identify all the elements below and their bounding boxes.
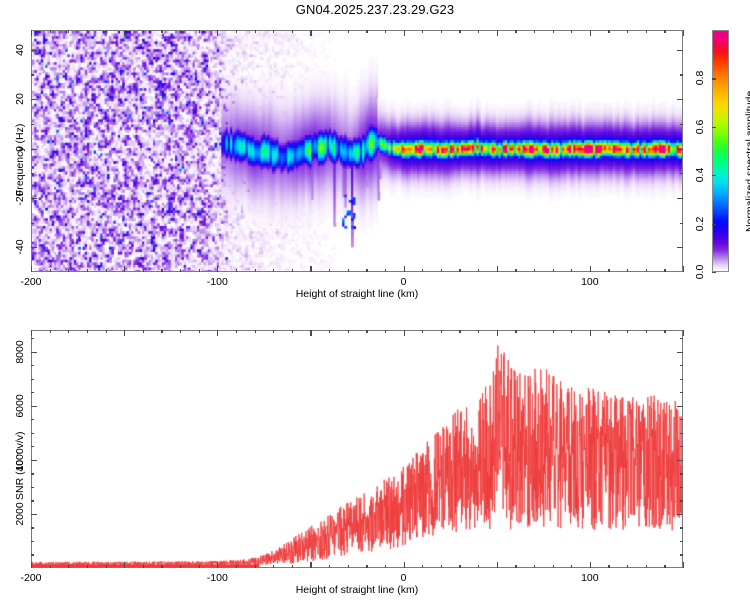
x-minor-tick <box>87 565 88 568</box>
y-minor-tick <box>31 541 34 542</box>
x-minor-tick <box>87 269 88 272</box>
x-tick <box>404 266 405 272</box>
x-tick <box>124 330 125 336</box>
x-tick-label: -100 <box>207 572 228 584</box>
x-minor-tick <box>441 565 442 568</box>
x-minor-tick <box>180 269 181 272</box>
x-minor-tick <box>87 330 88 333</box>
y-minor-tick <box>680 419 683 420</box>
x-minor-tick <box>329 30 330 33</box>
spectrogram-yaxis-label: Frequency (Hz) <box>14 124 26 196</box>
x-tick <box>590 30 591 36</box>
y-tick-label: 20 <box>14 93 26 105</box>
x-minor-tick <box>515 269 516 272</box>
x-minor-tick <box>161 565 162 568</box>
x-minor-tick <box>646 565 647 568</box>
x-minor-tick <box>534 330 535 333</box>
x-tick-label: 100 <box>581 572 599 584</box>
y-minor-tick <box>680 541 683 542</box>
x-tick <box>124 266 125 272</box>
x-minor-tick <box>534 565 535 568</box>
y-minor-tick <box>31 392 34 393</box>
x-minor-tick <box>348 269 349 272</box>
y-minor-tick <box>680 446 683 447</box>
x-minor-tick <box>422 269 423 272</box>
y-minor-tick <box>31 527 34 528</box>
x-minor-tick <box>180 30 181 33</box>
y-minor-tick <box>31 173 34 174</box>
x-minor-tick <box>366 30 367 33</box>
x-minor-tick <box>385 565 386 568</box>
x-minor-tick <box>459 330 460 333</box>
x-tick <box>497 266 498 272</box>
x-minor-tick <box>664 30 665 33</box>
y-tick <box>31 50 37 51</box>
x-minor-tick <box>161 269 162 272</box>
x-minor-tick <box>255 565 256 568</box>
x-minor-tick <box>553 30 554 33</box>
x-tick <box>590 562 591 568</box>
x-minor-tick <box>348 565 349 568</box>
x-tick <box>497 330 498 336</box>
y-minor-tick <box>680 365 683 366</box>
x-minor-tick <box>441 30 442 33</box>
x-tick <box>310 30 311 36</box>
x-tick-label: 0 <box>401 276 407 288</box>
x-tick <box>590 266 591 272</box>
colorbar-tick <box>712 224 716 225</box>
x-minor-tick <box>50 330 51 333</box>
y-minor-tick <box>680 473 683 474</box>
colorbar-tick <box>712 175 716 176</box>
x-minor-tick <box>422 30 423 33</box>
x-minor-tick <box>68 330 69 333</box>
x-minor-tick <box>68 565 69 568</box>
x-tick <box>310 266 311 272</box>
y-tick <box>677 406 683 407</box>
x-minor-tick <box>143 330 144 333</box>
x-minor-tick <box>385 330 386 333</box>
x-minor-tick <box>478 269 479 272</box>
y-minor-tick <box>31 74 34 75</box>
x-minor-tick <box>627 30 628 33</box>
x-minor-tick <box>515 565 516 568</box>
colorbar-tick-label: 0.2 <box>694 216 706 231</box>
y-minor-tick <box>31 124 34 125</box>
colorbar-tick-label: 0.8 <box>694 71 706 86</box>
x-minor-tick <box>571 565 572 568</box>
x-tick <box>31 266 32 272</box>
x-tick-label: -200 <box>20 572 41 584</box>
x-tick <box>590 330 591 336</box>
y-tick-label: 6000 <box>14 394 26 417</box>
x-tick <box>31 330 32 336</box>
y-minor-tick <box>680 223 683 224</box>
x-minor-tick <box>143 269 144 272</box>
x-minor-tick <box>608 565 609 568</box>
y-tick <box>31 247 37 248</box>
x-minor-tick <box>441 330 442 333</box>
x-minor-tick <box>292 30 293 33</box>
y-minor-tick <box>680 433 683 434</box>
x-minor-tick <box>236 565 237 568</box>
y-tick <box>677 99 683 100</box>
x-minor-tick <box>478 330 479 333</box>
x-tick <box>683 30 684 36</box>
x-minor-tick <box>553 330 554 333</box>
y-tick <box>31 198 37 199</box>
x-minor-tick <box>348 30 349 33</box>
y-tick-label: 40 <box>14 44 26 56</box>
y-minor-tick <box>680 74 683 75</box>
x-minor-tick <box>236 330 237 333</box>
snr-trace <box>32 331 683 568</box>
x-minor-tick <box>553 565 554 568</box>
colorbar-label: Normalized spectral amplitude <box>744 91 750 232</box>
x-minor-tick <box>199 330 200 333</box>
y-minor-tick <box>31 473 34 474</box>
y-tick <box>677 198 683 199</box>
colorbar-tick-label: 0.6 <box>694 119 706 134</box>
x-minor-tick <box>106 30 107 33</box>
x-minor-tick <box>87 30 88 33</box>
x-tick <box>217 330 218 336</box>
y-tick <box>31 99 37 100</box>
y-minor-tick <box>31 500 34 501</box>
x-tick <box>497 562 498 568</box>
x-minor-tick <box>199 30 200 33</box>
y-tick <box>31 149 37 150</box>
x-minor-tick <box>627 565 628 568</box>
x-tick <box>217 30 218 36</box>
x-tick <box>683 562 684 568</box>
x-tick <box>404 330 405 336</box>
x-minor-tick <box>627 330 628 333</box>
y-tick <box>677 247 683 248</box>
y-tick <box>31 352 37 353</box>
x-minor-tick <box>348 330 349 333</box>
x-minor-tick <box>50 269 51 272</box>
x-minor-tick <box>385 30 386 33</box>
y-tick-label: 2000 <box>14 502 26 525</box>
x-minor-tick <box>292 330 293 333</box>
colorbar-tick-label: 0.0 <box>694 265 706 280</box>
x-minor-tick <box>180 330 181 333</box>
figure-canvas: GN04.2025.237.23.29.G23 -200-10001004020… <box>0 0 750 600</box>
y-minor-tick <box>680 338 683 339</box>
x-minor-tick <box>608 330 609 333</box>
x-tick <box>310 562 311 568</box>
x-minor-tick <box>664 330 665 333</box>
x-minor-tick <box>664 565 665 568</box>
x-minor-tick <box>292 565 293 568</box>
x-minor-tick <box>422 565 423 568</box>
y-minor-tick <box>31 446 34 447</box>
x-minor-tick <box>646 30 647 33</box>
x-tick <box>124 562 125 568</box>
x-tick-label: 100 <box>581 276 599 288</box>
x-minor-tick <box>180 565 181 568</box>
x-minor-tick <box>143 30 144 33</box>
x-minor-tick <box>50 565 51 568</box>
x-minor-tick <box>273 565 274 568</box>
x-minor-tick <box>161 330 162 333</box>
x-minor-tick <box>553 269 554 272</box>
x-minor-tick <box>255 330 256 333</box>
x-minor-tick <box>366 269 367 272</box>
spectrogram-xaxis-label: Height of straight line (km) <box>31 288 683 300</box>
x-minor-tick <box>366 330 367 333</box>
y-minor-tick <box>31 338 34 339</box>
y-minor-tick <box>680 500 683 501</box>
x-minor-tick <box>571 30 572 33</box>
x-minor-tick <box>534 30 535 33</box>
y-tick <box>677 460 683 461</box>
y-tick <box>31 406 37 407</box>
x-minor-tick <box>664 269 665 272</box>
x-tick-label: -200 <box>20 276 41 288</box>
colorbar-tick <box>712 78 716 79</box>
x-tick <box>683 266 684 272</box>
x-minor-tick <box>106 330 107 333</box>
colorbar-tick <box>712 127 716 128</box>
x-minor-tick <box>273 330 274 333</box>
y-minor-tick <box>680 554 683 555</box>
y-minor-tick <box>680 379 683 380</box>
x-tick <box>310 330 311 336</box>
y-tick <box>677 149 683 150</box>
x-minor-tick <box>199 565 200 568</box>
y-minor-tick <box>31 433 34 434</box>
x-minor-tick <box>68 30 69 33</box>
x-tick <box>404 30 405 36</box>
x-tick <box>31 562 32 568</box>
x-tick <box>404 562 405 568</box>
x-minor-tick <box>646 269 647 272</box>
x-minor-tick <box>366 565 367 568</box>
y-minor-tick <box>680 487 683 488</box>
x-minor-tick <box>329 269 330 272</box>
x-minor-tick <box>441 269 442 272</box>
x-minor-tick <box>236 269 237 272</box>
y-minor-tick <box>680 173 683 174</box>
x-minor-tick <box>255 30 256 33</box>
x-minor-tick <box>608 269 609 272</box>
snr-plot-area <box>31 330 683 568</box>
x-tick <box>217 266 218 272</box>
y-minor-tick <box>31 223 34 224</box>
y-tick-label: -40 <box>14 240 26 255</box>
x-minor-tick <box>273 30 274 33</box>
x-tick <box>217 562 218 568</box>
x-minor-tick <box>143 565 144 568</box>
x-minor-tick <box>571 330 572 333</box>
x-minor-tick <box>68 269 69 272</box>
snr-xaxis-label: Height of straight line (km) <box>31 584 683 596</box>
x-minor-tick <box>236 30 237 33</box>
x-minor-tick <box>199 269 200 272</box>
x-minor-tick <box>329 565 330 568</box>
y-tick <box>677 50 683 51</box>
y-minor-tick <box>680 124 683 125</box>
x-minor-tick <box>571 269 572 272</box>
y-minor-tick <box>31 365 34 366</box>
x-minor-tick <box>515 330 516 333</box>
x-minor-tick <box>385 269 386 272</box>
y-tick <box>31 460 37 461</box>
x-minor-tick <box>329 330 330 333</box>
x-tick-label: 0 <box>401 572 407 584</box>
x-minor-tick <box>106 565 107 568</box>
colorbar-tick <box>712 272 716 273</box>
x-minor-tick <box>292 269 293 272</box>
x-minor-tick <box>608 30 609 33</box>
x-tick-label: -100 <box>207 276 228 288</box>
x-minor-tick <box>50 30 51 33</box>
y-tick <box>677 352 683 353</box>
y-minor-tick <box>31 419 34 420</box>
x-minor-tick <box>534 269 535 272</box>
y-minor-tick <box>680 527 683 528</box>
x-minor-tick <box>459 269 460 272</box>
y-minor-tick <box>31 554 34 555</box>
colorbar-gradient <box>712 30 729 272</box>
y-tick-label: 8000 <box>14 340 26 363</box>
spectrogram-plot-area <box>31 30 683 272</box>
y-minor-tick <box>31 487 34 488</box>
x-minor-tick <box>422 330 423 333</box>
x-minor-tick <box>478 565 479 568</box>
y-tick <box>31 514 37 515</box>
x-minor-tick <box>459 30 460 33</box>
snr-yaxis-label: SNR (10 ⁻ v/v) <box>14 431 26 500</box>
x-minor-tick <box>646 330 647 333</box>
x-minor-tick <box>273 269 274 272</box>
y-tick <box>677 514 683 515</box>
colorbar-tick-label: 0.4 <box>694 168 706 183</box>
x-minor-tick <box>478 30 479 33</box>
spectrogram-image <box>32 31 683 272</box>
x-minor-tick <box>459 565 460 568</box>
figure-title: GN04.2025.237.23.29.G23 <box>0 2 750 17</box>
x-minor-tick <box>515 30 516 33</box>
y-minor-tick <box>680 392 683 393</box>
x-minor-tick <box>161 30 162 33</box>
y-minor-tick <box>31 379 34 380</box>
x-tick <box>683 330 684 336</box>
x-minor-tick <box>106 269 107 272</box>
x-minor-tick <box>255 269 256 272</box>
x-tick <box>31 30 32 36</box>
x-tick <box>124 30 125 36</box>
x-minor-tick <box>627 269 628 272</box>
x-tick <box>497 30 498 36</box>
